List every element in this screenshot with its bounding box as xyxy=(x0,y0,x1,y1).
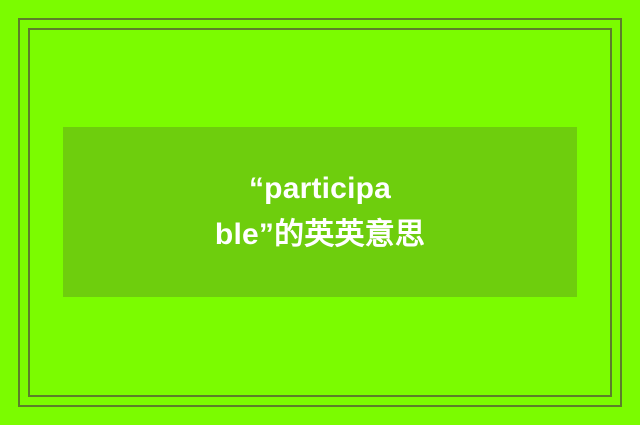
headline-block: “participa ble”的英英意思 xyxy=(63,166,577,259)
headline-line-2: ble”的英英意思 xyxy=(73,212,567,259)
poster-canvas: “participa ble”的英英意思 xyxy=(0,0,640,425)
headline-line-1: “participa xyxy=(73,166,567,213)
content-panel: “participa ble”的英英意思 xyxy=(63,127,577,297)
